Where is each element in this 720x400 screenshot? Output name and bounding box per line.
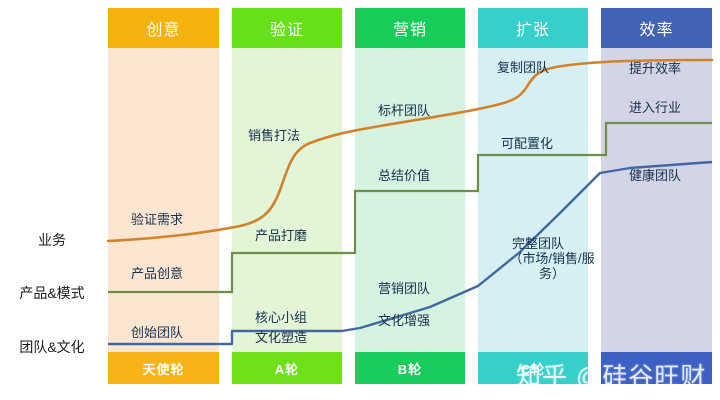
- annotation-complete-team: 完整团队: [512, 236, 564, 251]
- row-label-business: 业务: [0, 232, 104, 248]
- annotation-improve-efficiency: 提升效率: [629, 61, 681, 76]
- annotation-summarize-value: 总结价值: [378, 168, 430, 183]
- annotation-culture-enhance: 文化增强: [378, 313, 430, 328]
- watermark: 知乎 @硅谷旺财: [516, 357, 706, 393]
- annotation-product-polish-text: 产品打磨: [255, 228, 307, 243]
- annotation-verify-demand-text: 验证需求: [131, 212, 183, 227]
- annotation-complete-team-sub: （市场/销售/服务）: [509, 251, 595, 281]
- annotation-complete-team-sub-text: （市场/销售/服务）: [509, 251, 594, 281]
- annotation-product-idea-text: 产品创意: [131, 266, 183, 281]
- annotation-replicate-team: 复制团队: [497, 60, 549, 75]
- annotation-configurable: 可配置化: [501, 136, 553, 151]
- row-label-business-text: 业务: [38, 232, 66, 248]
- annotation-founding-team: 创始团队: [131, 325, 183, 340]
- stage-body-5: [601, 48, 712, 352]
- annotation-verify-demand: 验证需求: [131, 212, 183, 227]
- annotation-culture-enhance-text: 文化增强: [378, 313, 430, 328]
- stage-footer-label-3: B轮: [398, 359, 422, 378]
- stage-header-2: 验证: [232, 8, 342, 48]
- annotation-product-polish: 产品打磨: [255, 228, 307, 243]
- annotation-enter-industry: 进入行业: [629, 100, 681, 115]
- stage-body-2: [232, 48, 342, 352]
- stage-header-5: 效率: [601, 8, 712, 48]
- row-label-product: 产品&模式: [0, 285, 104, 301]
- row-label-team-text: 团队&文化: [19, 339, 84, 355]
- annotation-sales-playbook-text: 销售打法: [248, 128, 300, 143]
- annotation-replicate-team-text: 复制团队: [497, 60, 549, 75]
- stage-footer-2: A轮: [232, 352, 342, 384]
- stage-body-4: [478, 48, 588, 352]
- annotation-improve-efficiency-text: 提升效率: [629, 61, 681, 76]
- annotation-culture-shaping-text: 文化塑造: [255, 330, 307, 345]
- annotation-configurable-text: 可配置化: [501, 136, 553, 151]
- annotation-healthy-team-text: 健康团队: [629, 168, 681, 183]
- watermark-text: 知乎 @硅谷旺财: [516, 363, 706, 391]
- annotation-sales-playbook: 销售打法: [248, 128, 300, 143]
- annotation-healthy-team: 健康团队: [629, 168, 681, 183]
- stage-header-label-3: 营销: [393, 16, 427, 40]
- stage-footer-1: 天使轮: [108, 352, 219, 384]
- stage-header-3: 营销: [355, 8, 465, 48]
- stage-header-1: 创意: [108, 8, 219, 48]
- infographic-canvas: 创意 天使轮 验证 A轮 营销 B轮 扩张 C轮 效率 业务 产品&模式 团队&…: [0, 0, 720, 400]
- annotation-core-group: 核心小组: [255, 310, 307, 325]
- row-label-team: 团队&文化: [0, 339, 104, 355]
- annotation-marketing-team: 营销团队: [378, 281, 430, 296]
- stage-body-3: [355, 48, 465, 352]
- stage-footer-label-2: A轮: [275, 359, 299, 378]
- row-label-product-text: 产品&模式: [19, 285, 84, 301]
- stage-header-label-2: 验证: [270, 16, 304, 40]
- annotation-product-idea: 产品创意: [131, 266, 183, 281]
- annotation-culture-shaping: 文化塑造: [255, 330, 307, 345]
- stage-header-4: 扩张: [478, 8, 588, 48]
- annotation-benchmark-team-text: 标杆团队: [378, 103, 430, 118]
- annotation-core-group-text: 核心小组: [255, 310, 307, 325]
- stage-footer-label-1: 天使轮: [142, 359, 184, 378]
- annotation-marketing-team-text: 营销团队: [378, 281, 430, 296]
- stage-header-label-4: 扩张: [516, 16, 550, 40]
- annotation-summarize-value-text: 总结价值: [378, 168, 430, 183]
- annotation-enter-industry-text: 进入行业: [629, 100, 681, 115]
- stage-footer-3: B轮: [355, 352, 465, 384]
- annotation-complete-team-text: 完整团队: [512, 236, 564, 251]
- stage-header-label-1: 创意: [146, 16, 180, 40]
- stage-body-1: [108, 48, 219, 352]
- stage-header-label-5: 效率: [639, 16, 673, 40]
- annotation-founding-team-text: 创始团队: [131, 325, 183, 340]
- annotation-benchmark-team: 标杆团队: [378, 103, 430, 118]
- stage-column-3: 营销 B轮: [355, 8, 465, 392]
